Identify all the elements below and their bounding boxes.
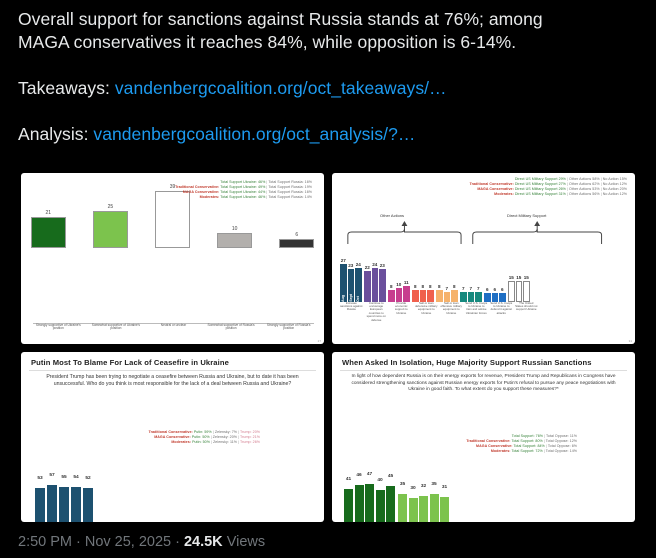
bar xyxy=(420,290,427,301)
bar-cell: 46 xyxy=(355,474,364,522)
bar-group: Aug27Sept23Oct24 xyxy=(340,254,362,302)
legend-row: Moderates: Putin: 50% | Zelensky: 11% | … xyxy=(51,440,260,445)
page-number-panel-2: 31 xyxy=(629,339,632,343)
chart-image-ukraine-russia-sympathy[interactable]: Total Support Ukraine: 46% | Total Suppo… xyxy=(18,170,327,347)
bar xyxy=(372,268,379,302)
takeaways-label: Takeaways: xyxy=(18,78,110,98)
post-footer: 2:50 PM·Nov 25, 2025·24.5K Views xyxy=(18,532,265,552)
analysis-link[interactable]: vandenbergcoalition.org/oct_analysis/?… xyxy=(93,124,415,144)
bar-value: 27 xyxy=(340,258,347,263)
bar xyxy=(31,217,66,248)
bar-value: 7 xyxy=(444,286,451,291)
bar-cell: 8 xyxy=(420,290,427,301)
category-label: Somewhat supportive of Ukraine's positio… xyxy=(91,324,142,342)
category-label: Send U.S. troops to Ukraine to defend it… xyxy=(490,302,513,342)
footer-separator-2: · xyxy=(171,534,184,550)
legend-panel-4: Total Support: 76% | Total Oppose: 11%Tr… xyxy=(372,434,577,454)
view-count: 24.5K xyxy=(184,534,223,550)
category-label: Somewhat supportive of Russia's position xyxy=(206,324,257,342)
post-line-2: MAGA conservatives it reaches 84%, while… xyxy=(18,31,638,54)
bar-cell: 10 xyxy=(396,288,403,302)
bar-cell: 11 xyxy=(403,286,410,301)
bar xyxy=(403,286,410,301)
bar-group: 151515 xyxy=(508,254,530,302)
category-label: Strongly supportive of Russia's position xyxy=(263,324,314,342)
chart-image-putin-blame[interactable]: Putin Most To Blame For Lack of Ceasefir… xyxy=(18,349,327,526)
legend-row: Moderates: Total Support Ukraine: 46% | … xyxy=(175,195,312,200)
bar-value: 23 xyxy=(379,263,386,268)
bar-cell: 41 xyxy=(344,474,353,522)
post-container: Overall support for sanctions against Ru… xyxy=(0,0,656,558)
bar xyxy=(419,496,428,522)
bar-value: 6 xyxy=(499,287,506,292)
legend-row: Moderates: Total Support: 72% | Total Op… xyxy=(372,449,577,454)
bar xyxy=(344,489,353,522)
bar xyxy=(436,290,443,301)
slide-4: When Asked In Isolation, Huge Majority S… xyxy=(332,352,635,523)
category-label: Increase sanctions against Russia xyxy=(340,302,363,342)
bar-column: 21 xyxy=(21,173,76,248)
bar: Sept xyxy=(348,269,355,301)
bar xyxy=(83,488,93,522)
bar-value: 22 xyxy=(364,265,371,270)
bar-value: 6 xyxy=(492,287,499,292)
bar-value: 57 xyxy=(47,473,57,478)
bar-value: 6 xyxy=(295,232,298,238)
bar-cell: 35 xyxy=(430,474,439,522)
slide-1: Total Support Ukraine: 46% | Total Suppo… xyxy=(21,173,324,344)
bar-cell: 35 xyxy=(398,474,407,522)
bar-value: 40 xyxy=(375,478,386,483)
bar-value: 7 xyxy=(475,286,482,291)
bar xyxy=(355,485,364,522)
bar xyxy=(35,488,45,522)
bar-cell: 54 xyxy=(71,476,81,522)
category-labels-panel-2: Increase sanctions against RussiaContinu… xyxy=(340,302,627,342)
bar-group: 878 xyxy=(436,254,458,302)
bar-cell: 57 xyxy=(47,476,57,522)
analysis-label: Analysis: xyxy=(18,124,88,144)
bar-cell: 8 xyxy=(436,290,443,301)
category-label: Sell or loan offensive military equipmen… xyxy=(440,302,463,342)
category-label: Provide economic support to Ukraine xyxy=(390,302,413,342)
bar xyxy=(47,485,57,522)
subtext-panel-3: President Trump has been trying to negot… xyxy=(21,374,324,388)
bar xyxy=(398,494,407,522)
bar-value: 23 xyxy=(348,263,355,268)
bar-value: 6 xyxy=(484,287,491,292)
bar-group: 777 xyxy=(460,254,482,302)
bar-cell: 8 xyxy=(412,290,419,301)
series-label: Aug xyxy=(341,294,345,302)
bar xyxy=(59,487,69,522)
bar xyxy=(516,281,523,302)
bar-cell: Oct24 xyxy=(355,268,362,302)
bar-value: 24 xyxy=(355,262,362,267)
bar-cell: Sept23 xyxy=(348,269,355,301)
bar-cell: 45 xyxy=(386,474,395,522)
bar xyxy=(508,281,515,302)
bracket-label-other-actions: Other Actions xyxy=(380,213,404,218)
bar-value: 24 xyxy=(372,262,379,267)
post-time: 2:50 PM xyxy=(18,534,72,550)
bar-cell: 15 xyxy=(523,281,530,302)
bar-group: 4146474045 xyxy=(344,474,395,522)
bar-cell: 22 xyxy=(364,271,371,302)
bar-chart-panel-2: Aug27Sept23Oct24222423810118888787776661… xyxy=(340,254,627,302)
bar xyxy=(523,281,530,302)
bar-value: 8 xyxy=(412,284,419,289)
heading-panel-4: When Asked In Isolation, Huge Majority S… xyxy=(332,352,635,370)
bar-cell: 8 xyxy=(451,290,458,301)
bar-column: 25 xyxy=(83,173,138,248)
post-line-1: Overall support for sanctions against Ru… xyxy=(18,8,638,31)
bar-cell: 15 xyxy=(508,281,515,302)
bar xyxy=(279,239,314,248)
legend-row: Moderates: Direct US Military Support 31… xyxy=(470,192,627,197)
bar xyxy=(71,487,81,522)
bar-cell: 31 xyxy=(440,474,449,522)
bar-cell: 8 xyxy=(388,290,395,301)
bar-cell: Aug27 xyxy=(340,264,347,302)
bar-value: 7 xyxy=(468,286,475,291)
brackets-panel-2: Other Actions Direct Military Support xyxy=(342,219,625,245)
legend-panel-2: Direct US Military Support 29% | Other A… xyxy=(470,177,627,197)
media-grid: Total Support Ukraine: 46% | Total Suppo… xyxy=(18,170,638,525)
takeaways-line: Takeaways: vandenbergcoalition.org/oct_t… xyxy=(18,77,638,100)
bar-chart-panel-3: 5357555452 xyxy=(35,476,103,522)
analysis-line: Analysis: vandenbergcoalition.org/oct_an… xyxy=(18,123,638,146)
bar xyxy=(365,484,374,522)
bar-cell: 47 xyxy=(365,474,374,522)
bar-cell: 8 xyxy=(427,290,434,301)
bar-value: 25 xyxy=(108,204,114,210)
bar-value: 32 xyxy=(418,484,429,489)
subtext-panel-4: In light of how dependent Russia is on t… xyxy=(332,374,635,393)
category-label: Sell or loan defensive military equipmen… xyxy=(415,302,438,342)
category-label: Send U.S. troops to Ukraine to train and… xyxy=(465,302,488,342)
divider-panel-4 xyxy=(340,370,627,371)
bar: Aug xyxy=(340,264,347,302)
bar-value: 30 xyxy=(408,486,419,491)
chart-image-russian-sanctions[interactable]: When Asked In Isolation, Huge Majority S… xyxy=(329,349,638,526)
bracket-label-direct-military-support: Direct Military Support xyxy=(507,213,546,218)
bar-group: 3530323531 xyxy=(398,474,449,522)
bar-value: 10 xyxy=(232,226,238,232)
bar-value: 21 xyxy=(45,210,51,216)
bar xyxy=(386,486,395,522)
bar-value: 8 xyxy=(388,284,395,289)
bar-cell: 15 xyxy=(516,281,523,302)
bar-value: 45 xyxy=(385,474,396,479)
category-label: Continue to encourage European countries… xyxy=(365,302,388,342)
chart-image-support-measures[interactable]: Direct US Military Support 29% | Other A… xyxy=(329,170,638,347)
bar-value: 7 xyxy=(460,286,467,291)
text-spacer-1 xyxy=(18,54,638,77)
bar-value: 10 xyxy=(396,282,403,287)
bar-value: 53 xyxy=(35,476,45,481)
category-label: Strongly supportive of Ukraine's positio… xyxy=(33,324,84,342)
bar-cell: 53 xyxy=(35,476,45,522)
heading-panel-3: Putin Most To Blame For Lack of Ceasefir… xyxy=(21,352,324,370)
bar xyxy=(217,233,252,248)
bar-value: 41 xyxy=(343,477,354,482)
bar-value: 35 xyxy=(429,482,440,487)
bar xyxy=(376,490,385,522)
bar-value: 52 xyxy=(83,476,93,481)
bar-value: 35 xyxy=(397,482,408,487)
views-label: Views xyxy=(227,534,265,550)
bar-value: 15 xyxy=(508,275,515,280)
footer-separator-1: · xyxy=(72,534,85,550)
bar-cell: 24 xyxy=(372,268,379,302)
bar-value: 15 xyxy=(523,275,530,280)
bar-cell: 40 xyxy=(376,474,385,522)
bar xyxy=(409,498,418,522)
bar xyxy=(93,211,128,248)
page-number-panel-1: 27 xyxy=(318,339,321,343)
post-text: Overall support for sanctions against Ru… xyxy=(0,0,656,146)
category-labels-panel-1: Strongly supportive of Ukraine's positio… xyxy=(33,324,314,342)
bar xyxy=(427,290,434,301)
bar-group: 222423 xyxy=(364,254,386,302)
bar xyxy=(440,497,449,522)
bar-cell: 30 xyxy=(409,474,418,522)
bar-value: 11 xyxy=(403,280,410,285)
legend-panel-1: Total Support Ukraine: 46% | Total Suppo… xyxy=(175,180,312,200)
bracket-svg xyxy=(342,219,625,245)
bar-cell: 55 xyxy=(59,476,69,522)
bar-value: 46 xyxy=(354,473,365,478)
bar-value: 54 xyxy=(71,475,81,480)
text-spacer-2 xyxy=(18,100,638,123)
bar-value: 8 xyxy=(436,284,443,289)
bar xyxy=(388,290,395,301)
bar-value: 8 xyxy=(427,284,434,289)
slide-2: Direct US Military Support 29% | Other A… xyxy=(332,173,635,344)
bar-group: 666 xyxy=(484,254,506,302)
bar xyxy=(430,494,439,522)
bar-cell: 23 xyxy=(379,269,386,301)
bar-chart-panel-4: 41464740453530323531 xyxy=(344,474,484,522)
legend-panel-3: Traditional Conservative: Putin: 59% | Z… xyxy=(51,430,260,445)
bar-value: 8 xyxy=(420,284,427,289)
slide-3: Putin Most To Blame For Lack of Ceasefir… xyxy=(21,352,324,523)
post-date: Nov 25, 2025 xyxy=(85,534,171,550)
divider-panel-3 xyxy=(29,370,316,371)
bar xyxy=(364,271,371,302)
bar-group: 81011 xyxy=(388,254,410,302)
bar-cell: 52 xyxy=(83,476,93,522)
bar: Oct xyxy=(355,268,362,302)
bar-cell: 32 xyxy=(419,474,428,522)
bar xyxy=(412,290,419,301)
bar xyxy=(379,269,386,301)
bar xyxy=(451,290,458,301)
bar-value: 47 xyxy=(364,472,375,477)
bar xyxy=(396,288,403,302)
takeaways-link[interactable]: vandenbergcoalition.org/oct_takeaways/… xyxy=(115,78,447,98)
bar-value: 55 xyxy=(59,475,69,480)
category-label: Neutral or unclear xyxy=(148,324,199,342)
bar-value: 15 xyxy=(516,275,523,280)
category-label: The United States should not support Ukr… xyxy=(515,302,538,342)
bar-value: 31 xyxy=(439,485,450,490)
bar-group: 888 xyxy=(412,254,434,302)
bar-value: 8 xyxy=(451,284,458,289)
